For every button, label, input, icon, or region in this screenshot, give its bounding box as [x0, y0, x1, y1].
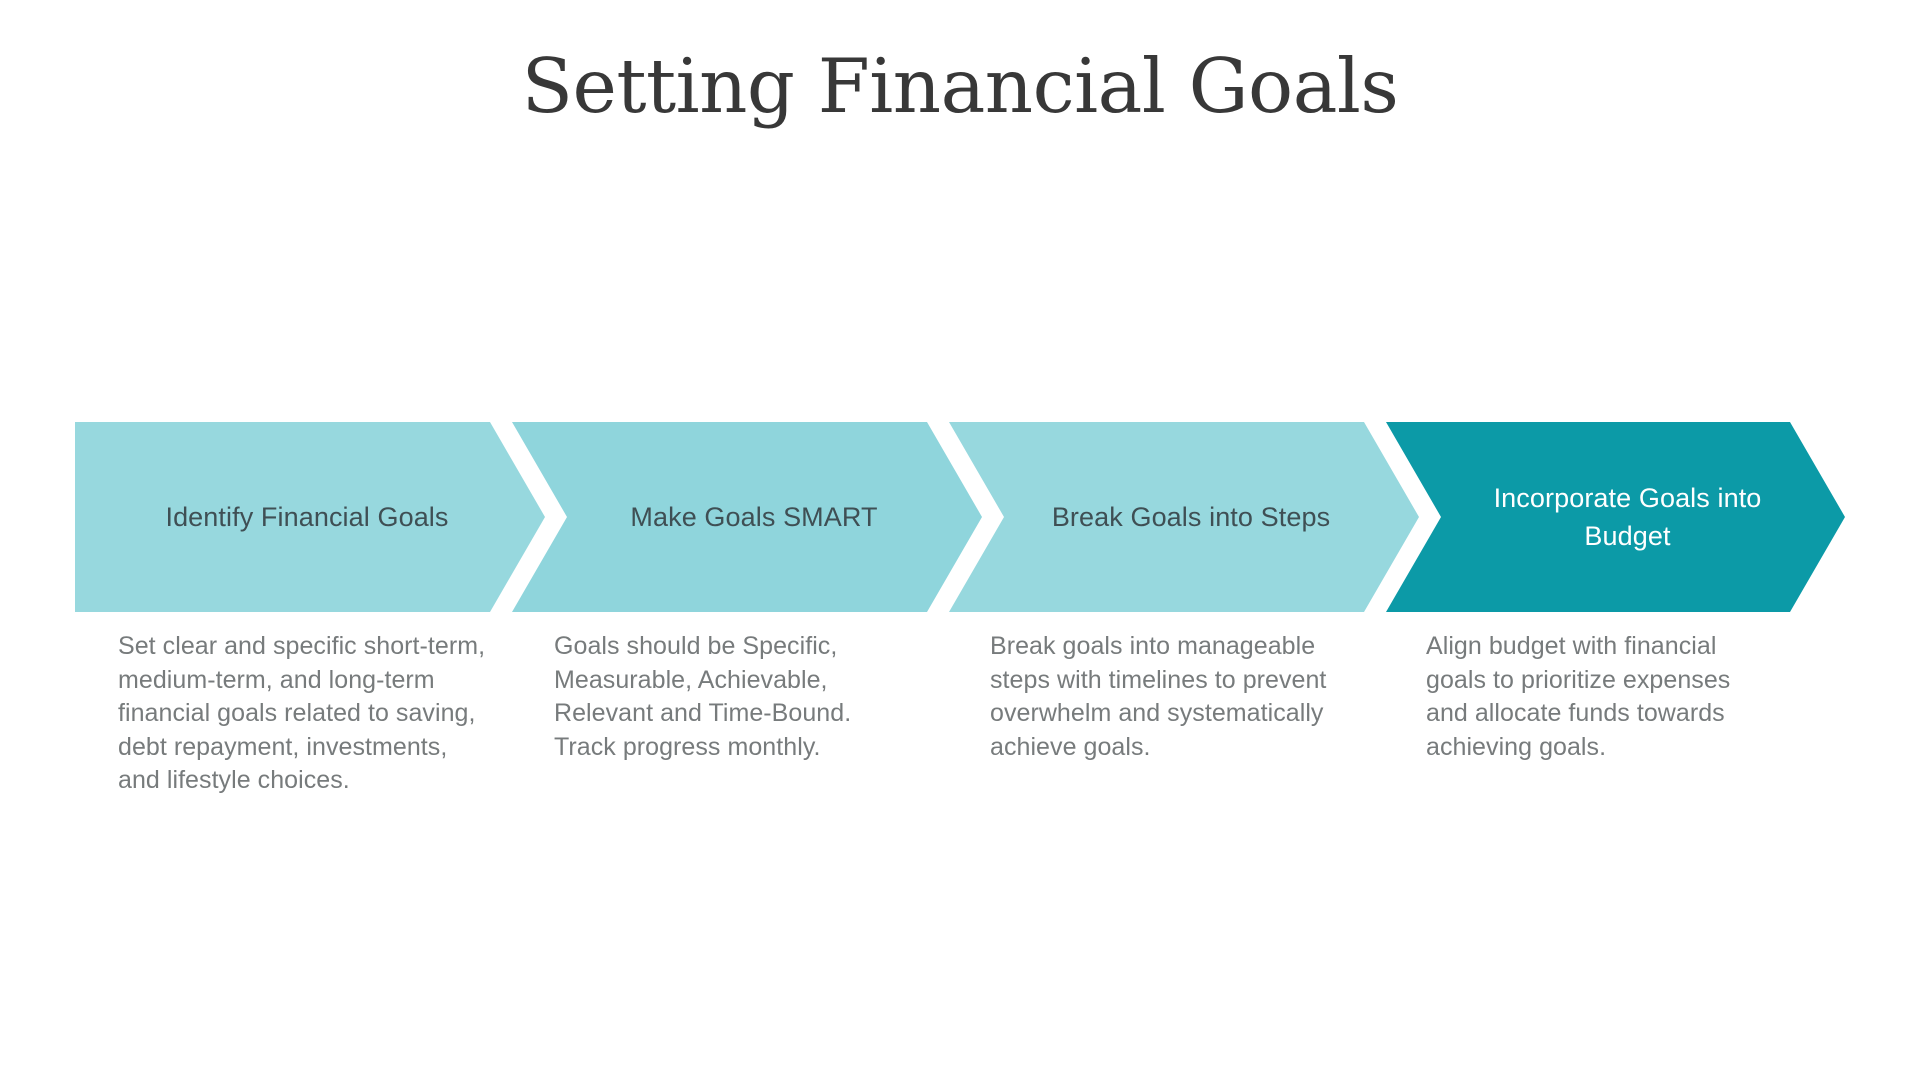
process-step-4-description: Align budget with financial goals to pri… [1426, 630, 1766, 764]
process-step-2-description: Goals should be Specific, Measurable, Ac… [554, 630, 894, 764]
process-step-3[interactable]: Break Goals into Steps [949, 422, 1419, 612]
chevron-process-diagram: Identify Financial Goals Make Goals SMAR… [75, 422, 1845, 612]
slide-root: { "slide": { "title": "Setting Financial… [0, 0, 1920, 1080]
process-step-1-description: Set clear and specific short-term, mediu… [118, 630, 493, 798]
process-step-2-label: Make Goals SMART [589, 498, 919, 536]
process-step-3-description: Break goals into manageable steps with t… [990, 630, 1350, 764]
process-step-2[interactable]: Make Goals SMART [512, 422, 982, 612]
process-step-1[interactable]: Identify Financial Goals [75, 422, 545, 612]
process-step-4-label: Incorporate Goals into Budget [1463, 479, 1793, 555]
process-step-4[interactable]: Incorporate Goals into Budget [1386, 422, 1845, 612]
process-step-1-label: Identify Financial Goals [142, 498, 472, 536]
process-step-3-label: Break Goals into Steps [1026, 498, 1356, 536]
process-descriptions: Set clear and specific short-term, mediu… [0, 630, 1920, 890]
page-title: Setting Financial Goals [0, 38, 1920, 134]
